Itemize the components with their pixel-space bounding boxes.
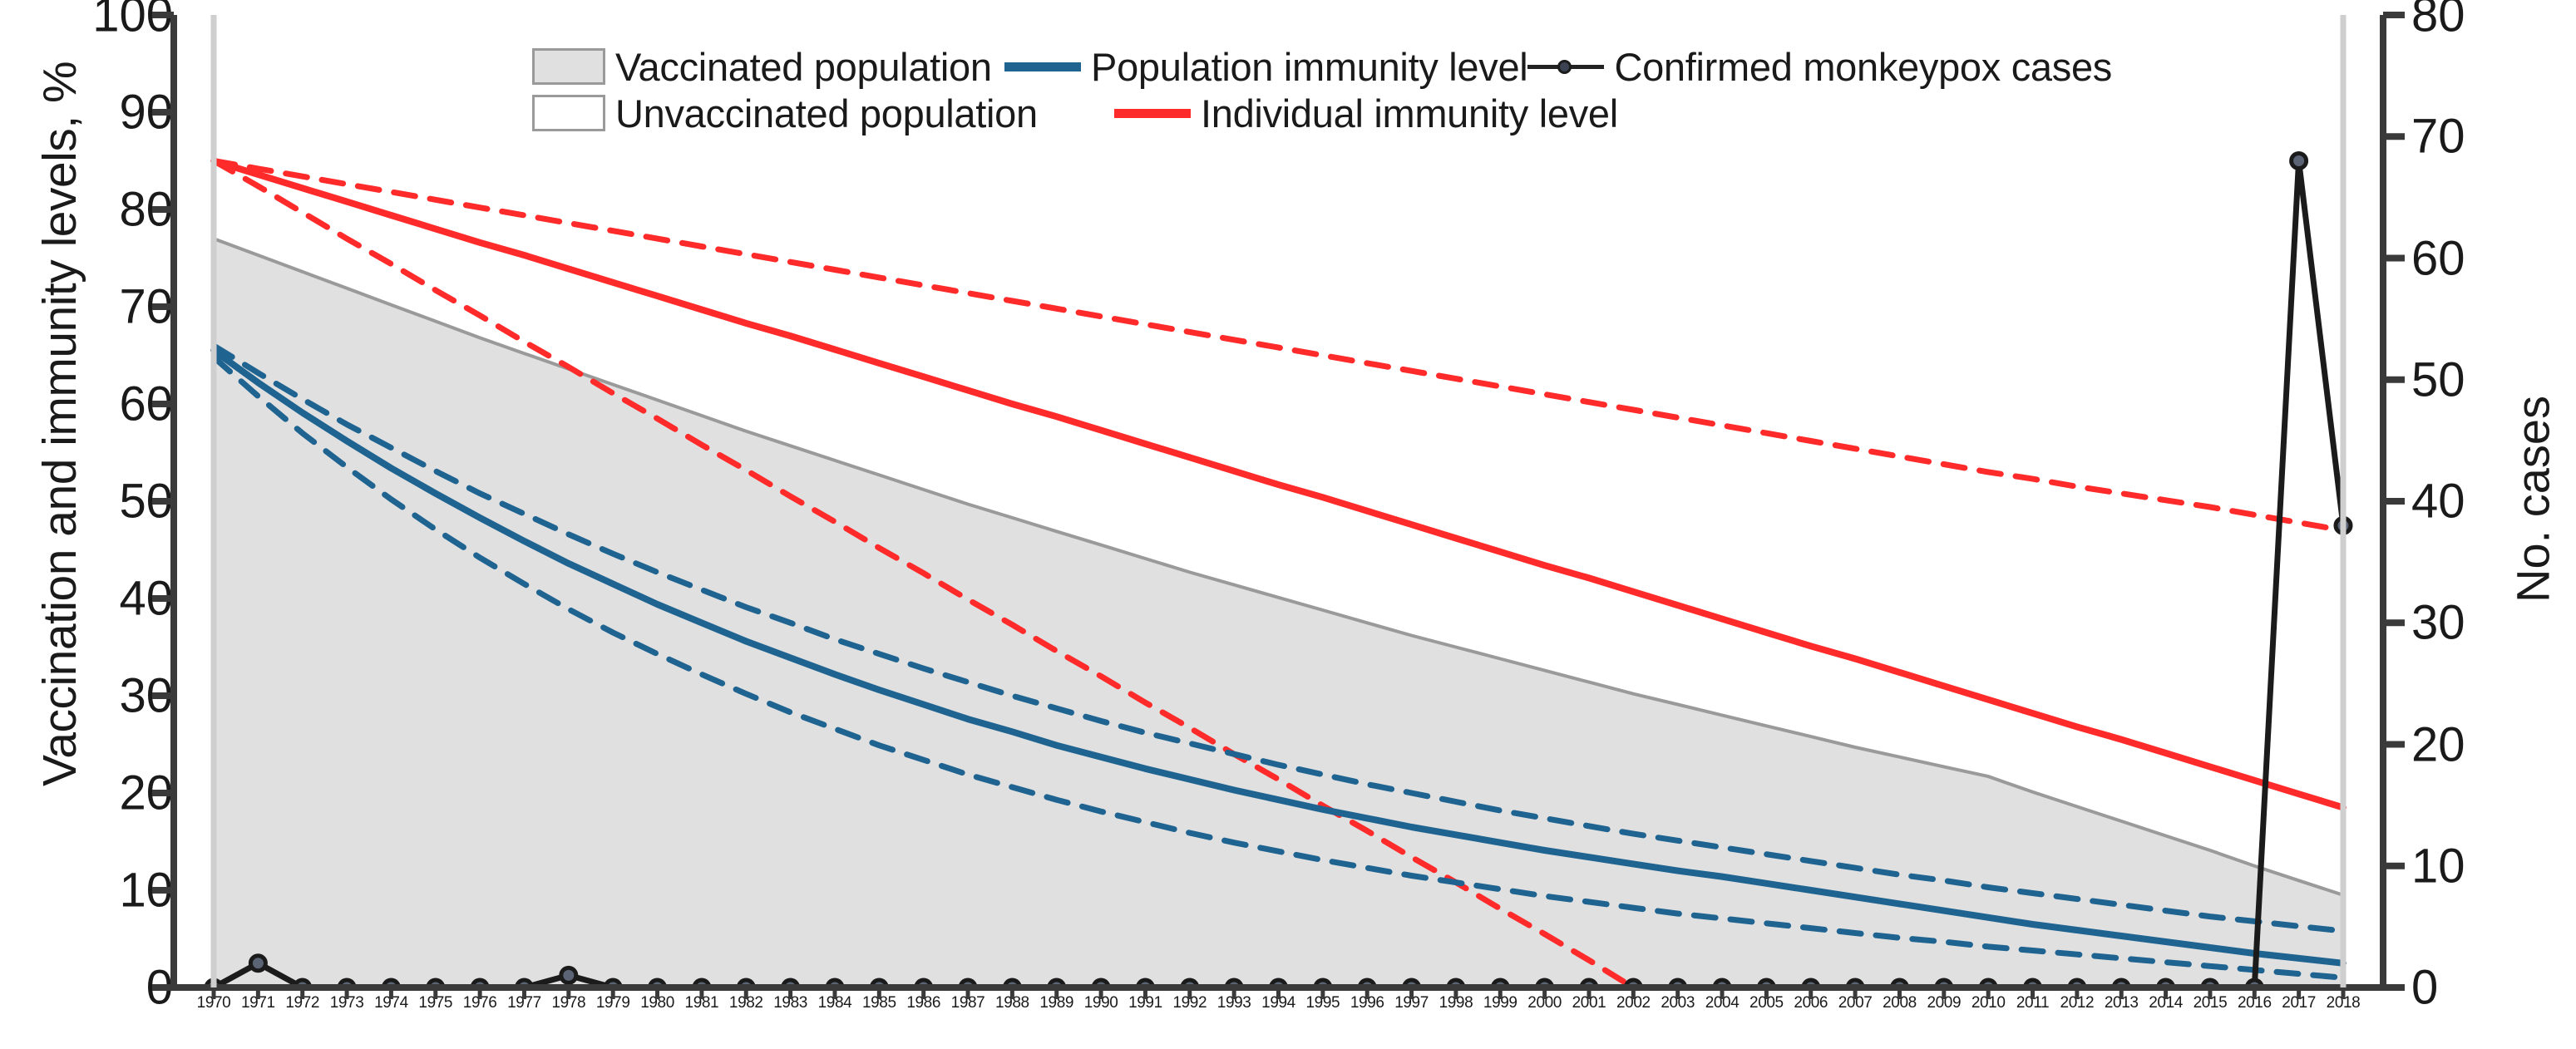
monkeypox-data-point <box>1537 980 1552 987</box>
x-axis-tick-label: 2010 <box>1971 994 2006 1012</box>
monkeypox-data-point <box>1759 980 1774 987</box>
monkeypox-data-point <box>871 980 886 987</box>
monkeypox-data-point <box>383 980 398 987</box>
legend-label: Vaccinated population <box>615 44 992 90</box>
individual-immunity-line-icon <box>1114 109 1191 118</box>
x-axis-tick-label: 1979 <box>596 994 630 1012</box>
plot-area <box>192 15 2365 987</box>
x-axis-tick-label: 2002 <box>1616 994 1651 1012</box>
x-axis-tick-label: 2001 <box>1572 994 1606 1012</box>
monkeypox-data-point <box>1582 980 1596 987</box>
left-axis-tick-label: 90 <box>119 85 173 140</box>
x-axis-tick-label: 1995 <box>1306 994 1340 1012</box>
x-axis-tick-label: 1972 <box>285 994 319 1012</box>
monkeypox-data-point <box>2203 980 2218 987</box>
x-axis-tick-label: 1997 <box>1394 994 1429 1012</box>
x-axis-tick-label: 2007 <box>1838 994 1873 1012</box>
monkeypox-data-point <box>1404 980 1419 987</box>
monkeypox-data-point <box>2159 980 2174 987</box>
monkeypox-data-point <box>1493 980 1508 987</box>
x-axis-tick-label: 1996 <box>1350 994 1384 1012</box>
monkeypox-data-point <box>650 980 665 987</box>
x-axis-tick-label: 1981 <box>685 994 719 1012</box>
chart-legend: Vaccinated population Population immunit… <box>532 43 2112 136</box>
x-axis-tick-label: 1982 <box>729 994 763 1012</box>
monkeypox-data-point <box>206 980 221 987</box>
left-axis-tick-label: 30 <box>119 668 173 724</box>
monkeypox-data-point <box>2114 980 2129 987</box>
monkeypox-data-point <box>2247 980 2262 987</box>
x-axis-tick-label: 2005 <box>1749 994 1784 1012</box>
monkeypox-data-point <box>1004 980 1019 987</box>
right-axis-tick-label: 70 <box>2411 109 2465 165</box>
legend-item-unvaccinated-population[interactable]: Unvaccinated population <box>532 91 1114 136</box>
vaccinated-population-area <box>214 239 2343 987</box>
monkeypox-data-point <box>1893 980 1907 987</box>
monkeypox-data-point <box>1626 980 1641 987</box>
legend-label: Population immunity level <box>1091 44 1527 90</box>
monkeypox-data-point <box>472 980 487 987</box>
x-axis-tick-label: 2003 <box>1661 994 1695 1012</box>
right-axis-tick-label: 30 <box>2411 595 2465 651</box>
left-axis-tick-label: 40 <box>119 571 173 627</box>
x-axis-tick-label: 2014 <box>2149 994 2183 1012</box>
monkeypox-data-point <box>2026 980 2041 987</box>
left-axis-tick-labels: 0102030405060708090100 <box>33 0 173 973</box>
x-axis-tick-label: 2011 <box>2016 994 2049 1012</box>
legend-item-individual-immunity-level[interactable]: Individual immunity level <box>1114 91 1746 136</box>
left-axis-tick-label: 70 <box>119 279 173 335</box>
x-axis-tick-label: 1973 <box>330 994 364 1012</box>
left-axis-tick-label: 80 <box>119 182 173 238</box>
monkeypox-data-point <box>1226 980 1241 987</box>
right-axis-tick-label: 80 <box>2411 0 2465 43</box>
monkeypox-data-point <box>1670 980 1685 987</box>
monkeypox-data-point <box>428 980 443 987</box>
monkeypox-data-point <box>295 980 310 987</box>
right-axis-tick-label: 40 <box>2411 474 2465 529</box>
x-axis-tick-label: 2017 <box>2282 994 2316 1012</box>
x-axis-tick-label: 1991 <box>1128 994 1162 1012</box>
unvaccinated-population-swatch-icon <box>532 95 605 131</box>
x-axis-tick-label: 1988 <box>995 994 1029 1012</box>
monkeypox-data-point <box>1049 980 1064 987</box>
monkeypox-data-point <box>1271 980 1286 987</box>
x-axis-tick-labels: 1970197119721973197419751976197719781979… <box>192 994 2365 1027</box>
legend-row-2: Unvaccinated population Individual immun… <box>532 90 2112 136</box>
monkeypox-data-point <box>1804 980 1818 987</box>
legend-row-1: Vaccinated population Population immunit… <box>532 43 2112 90</box>
left-axis-tick-label: 60 <box>119 377 173 432</box>
x-axis-tick-label: 1978 <box>551 994 585 1012</box>
x-axis-tick-label: 2012 <box>2060 994 2095 1012</box>
monkeypox-data-point <box>783 980 798 987</box>
x-axis-tick-label: 1998 <box>1439 994 1473 1012</box>
left-axis-tick-label: 100 <box>92 0 173 43</box>
x-axis-tick-label: 1970 <box>197 994 231 1012</box>
x-axis-tick-label: 2009 <box>1927 994 1961 1012</box>
legend-label: Individual immunity level <box>1201 91 1618 136</box>
monkeypox-data-point <box>1137 980 1152 987</box>
x-axis-tick-label: 2013 <box>2105 994 2139 1012</box>
legend-item-vaccinated-population[interactable]: Vaccinated population <box>532 44 1004 90</box>
x-axis-tick-label: 2004 <box>1705 994 1740 1012</box>
x-axis-tick-label: 1993 <box>1217 994 1251 1012</box>
right-axis-tick-label: 20 <box>2411 717 2465 772</box>
right-axis-tick-label: 10 <box>2411 838 2465 894</box>
legend-label: Unvaccinated population <box>615 91 1038 136</box>
x-axis-tick-label: 1974 <box>374 994 408 1012</box>
x-axis-tick-label: 1976 <box>463 994 497 1012</box>
x-axis-tick-label: 1980 <box>640 994 674 1012</box>
left-axis-tick-label: 0 <box>146 960 173 1016</box>
chart-canvas <box>192 15 2365 987</box>
x-axis-tick-label: 1971 <box>241 994 275 1012</box>
right-axis-tick-label: 50 <box>2411 352 2465 407</box>
monkeypox-data-point <box>738 980 753 987</box>
monkeypox-data-point <box>561 968 576 983</box>
monkeypox-data-point <box>1448 980 1463 987</box>
legend-item-confirmed-monkeypox-cases[interactable]: Confirmed monkeypox cases <box>1527 44 2112 90</box>
x-axis-tick-label: 1975 <box>418 994 452 1012</box>
monkeypox-data-point <box>1981 980 1996 987</box>
x-axis-tick-label: 1977 <box>507 994 541 1012</box>
right-axis-tick-labels: 01020304050607080 <box>2411 0 2551 973</box>
monkeypox-data-point <box>1315 980 1330 987</box>
x-axis-tick-label: 1990 <box>1084 994 1118 1012</box>
monkeypox-data-point <box>605 980 620 987</box>
monkeypox-data-point <box>1182 980 1197 987</box>
left-axis-tick-label: 20 <box>119 766 173 821</box>
monkeypox-data-point <box>2336 518 2351 533</box>
monkeypox-data-point <box>1093 980 1108 987</box>
x-axis-tick-label: 1989 <box>1039 994 1073 1012</box>
x-axis-tick-label: 1999 <box>1483 994 1517 1012</box>
x-axis-tick-label: 1994 <box>1261 994 1295 1012</box>
x-axis-tick-label: 2016 <box>2238 994 2272 1012</box>
monkeypox-data-point <box>339 980 354 987</box>
monkeypox-data-point <box>1715 980 1730 987</box>
x-axis-tick-label: 2000 <box>1527 994 1562 1012</box>
vaccinated-population-swatch-icon <box>532 48 605 85</box>
x-axis-tick-label: 1986 <box>906 994 940 1012</box>
monkeypox-data-point <box>517 980 532 987</box>
monkeypox-data-point <box>250 956 265 971</box>
x-axis-tick-label: 1992 <box>1172 994 1207 1012</box>
right-axis-tick-label: 0 <box>2411 960 2438 1016</box>
monkeypox-data-point <box>1848 980 1863 987</box>
monkeypox-data-point <box>827 980 842 987</box>
monkeypox-data-point <box>2070 980 2085 987</box>
x-axis-tick-label: 2015 <box>2194 994 2228 1012</box>
monkeypox-line-marker-icon <box>1527 60 1604 73</box>
x-axis-tick-label: 1985 <box>862 994 896 1012</box>
monkeypox-data-point <box>1360 980 1374 987</box>
x-axis-tick-label: 2008 <box>1883 994 1917 1012</box>
monkeypox-data-point <box>960 980 975 987</box>
legend-label: Confirmed monkeypox cases <box>1614 44 2112 90</box>
x-axis-tick-label: 1983 <box>773 994 807 1012</box>
monkeypox-data-point <box>2292 154 2307 169</box>
left-axis-tick-label: 10 <box>119 863 173 918</box>
x-axis-tick-label: 2018 <box>2327 994 2361 1012</box>
monkeypox-data-point <box>1937 980 1952 987</box>
chart-figure: Vaccination and immunity levels, % No. c… <box>0 0 2576 1049</box>
x-axis-tick-label: 2006 <box>1794 994 1828 1012</box>
left-axis-tick-label: 50 <box>119 474 173 529</box>
monkeypox-data-point <box>694 980 709 987</box>
right-axis-tick-label: 60 <box>2411 230 2465 286</box>
monkeypox-data-point <box>916 980 931 987</box>
x-axis-tick-label: 1984 <box>818 994 852 1012</box>
x-axis-tick-label: 1987 <box>951 994 985 1012</box>
legend-item-population-immunity-level[interactable]: Population immunity level <box>1004 44 1527 90</box>
population-immunity-line-icon <box>1004 62 1081 71</box>
